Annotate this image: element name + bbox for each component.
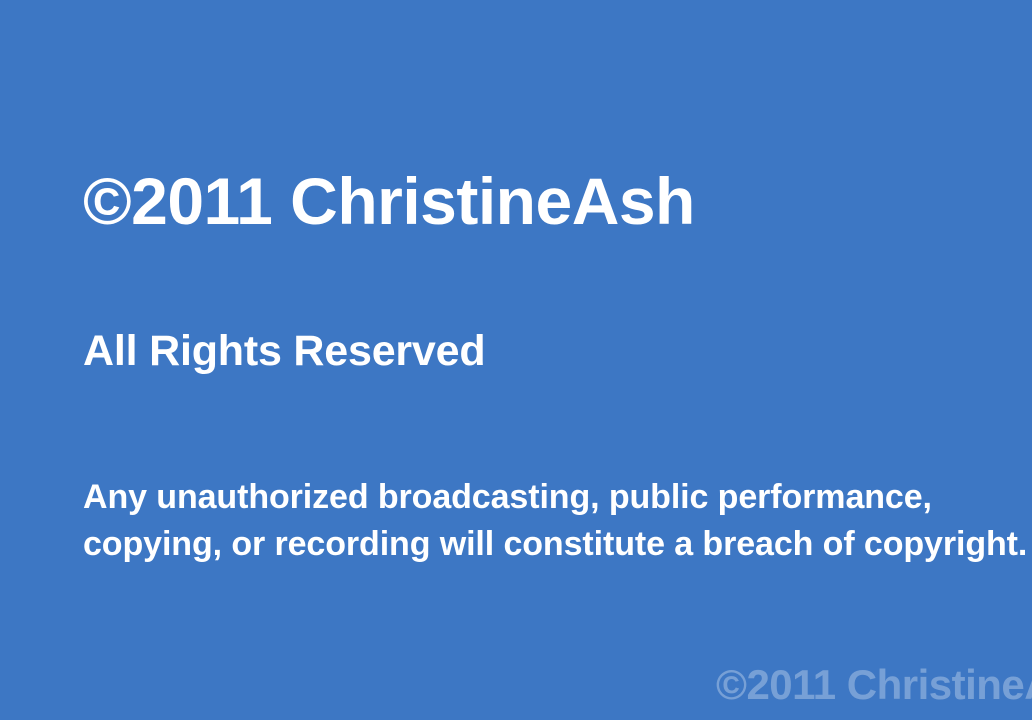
copyright-notice-line-2: copying, or recording will constitute a …: [83, 521, 1032, 568]
page-title: ©2011 ChristineAsh: [83, 168, 695, 234]
copyright-notice: Any unauthorized broadcasting, public pe…: [83, 474, 1032, 568]
copyright-slide: ©2011 ChristineAsh All Rights Reserved A…: [0, 0, 1032, 720]
rights-reserved-label: All Rights Reserved: [83, 329, 485, 374]
copyright-watermark: ©2011 ChristineAsh: [716, 663, 1032, 707]
copyright-notice-line-1: Any unauthorized broadcasting, public pe…: [83, 474, 1032, 521]
